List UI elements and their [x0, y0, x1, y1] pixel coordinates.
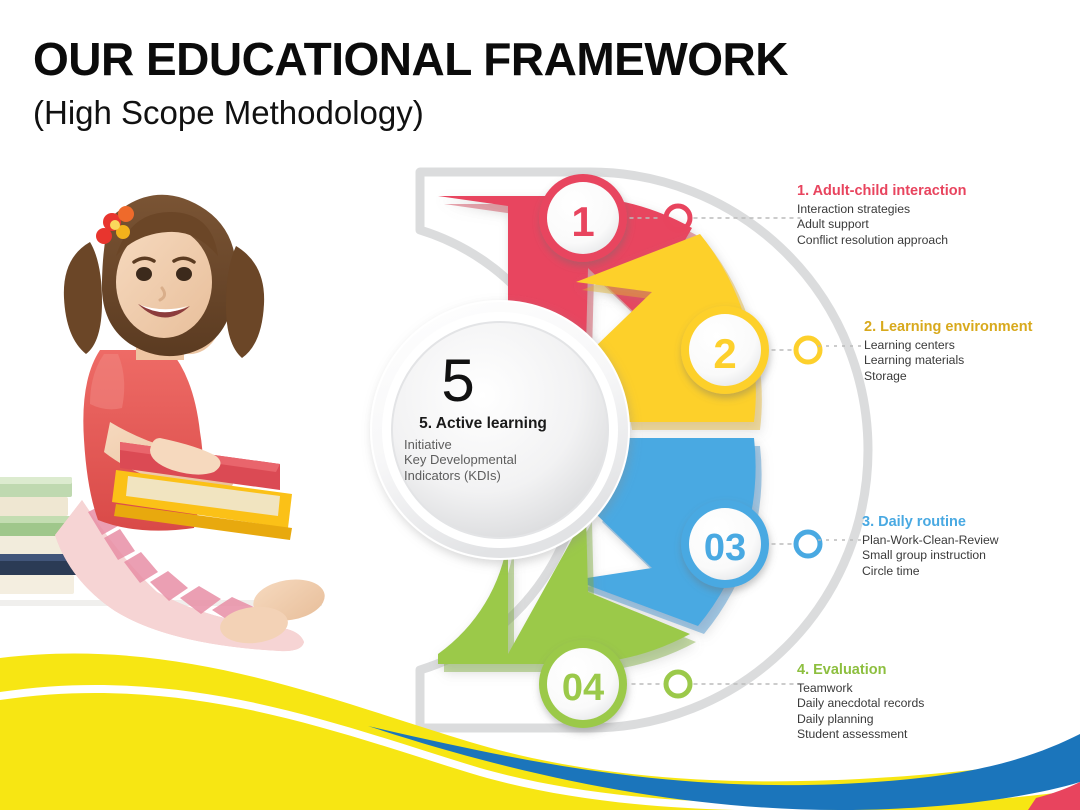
- page-title: OUR EDUCATIONAL FRAMEWORK: [33, 36, 933, 82]
- callout-1-item: Adult support: [797, 217, 1072, 232]
- callout-adult-child-interaction: 1. Adult-child interaction Interaction s…: [797, 183, 1072, 248]
- callout-2-item: Learning centers: [864, 338, 1080, 353]
- center-disc: [370, 300, 630, 560]
- callout-learning-environment: 2. Learning environment Learning centers…: [864, 319, 1080, 384]
- badge-1-label: 1: [571, 198, 594, 245]
- connector-3: [772, 532, 820, 556]
- callout-2-title: 2. Learning environment: [864, 319, 1080, 336]
- bottom-wave-decoration: [0, 630, 1080, 810]
- connector-2-tail: [818, 340, 868, 352]
- callout-2-item: Learning materials: [864, 353, 1080, 368]
- badge-2-label: 2: [713, 330, 736, 377]
- girl-with-books-photo: [0, 170, 392, 670]
- callout-daily-routine: 3. Daily routine Plan-Work-Clean-Review …: [862, 514, 1080, 579]
- connector-2: [772, 338, 820, 362]
- callout-3-item: Circle time: [862, 564, 1080, 579]
- slide-root: OUR EDUCATIONAL FRAMEWORK (High Scope Me…: [0, 0, 1080, 810]
- callout-3-item: Plan-Work-Clean-Review: [862, 533, 1080, 548]
- header: OUR EDUCATIONAL FRAMEWORK (High Scope Me…: [33, 36, 933, 129]
- callout-3-item: Small group instruction: [862, 548, 1080, 563]
- callout-2-item: Storage: [864, 369, 1080, 384]
- page-subtitle: (High Scope Methodology): [33, 96, 933, 129]
- callout-1-title: 1. Adult-child interaction: [797, 183, 1072, 200]
- callout-1-item: Conflict resolution approach: [797, 233, 1072, 248]
- connector-3-tail: [818, 534, 868, 546]
- badge-3-label: 03: [704, 527, 746, 569]
- callout-3-title: 3. Daily routine: [862, 514, 1080, 531]
- callout-1-item: Interaction strategies: [797, 202, 1072, 217]
